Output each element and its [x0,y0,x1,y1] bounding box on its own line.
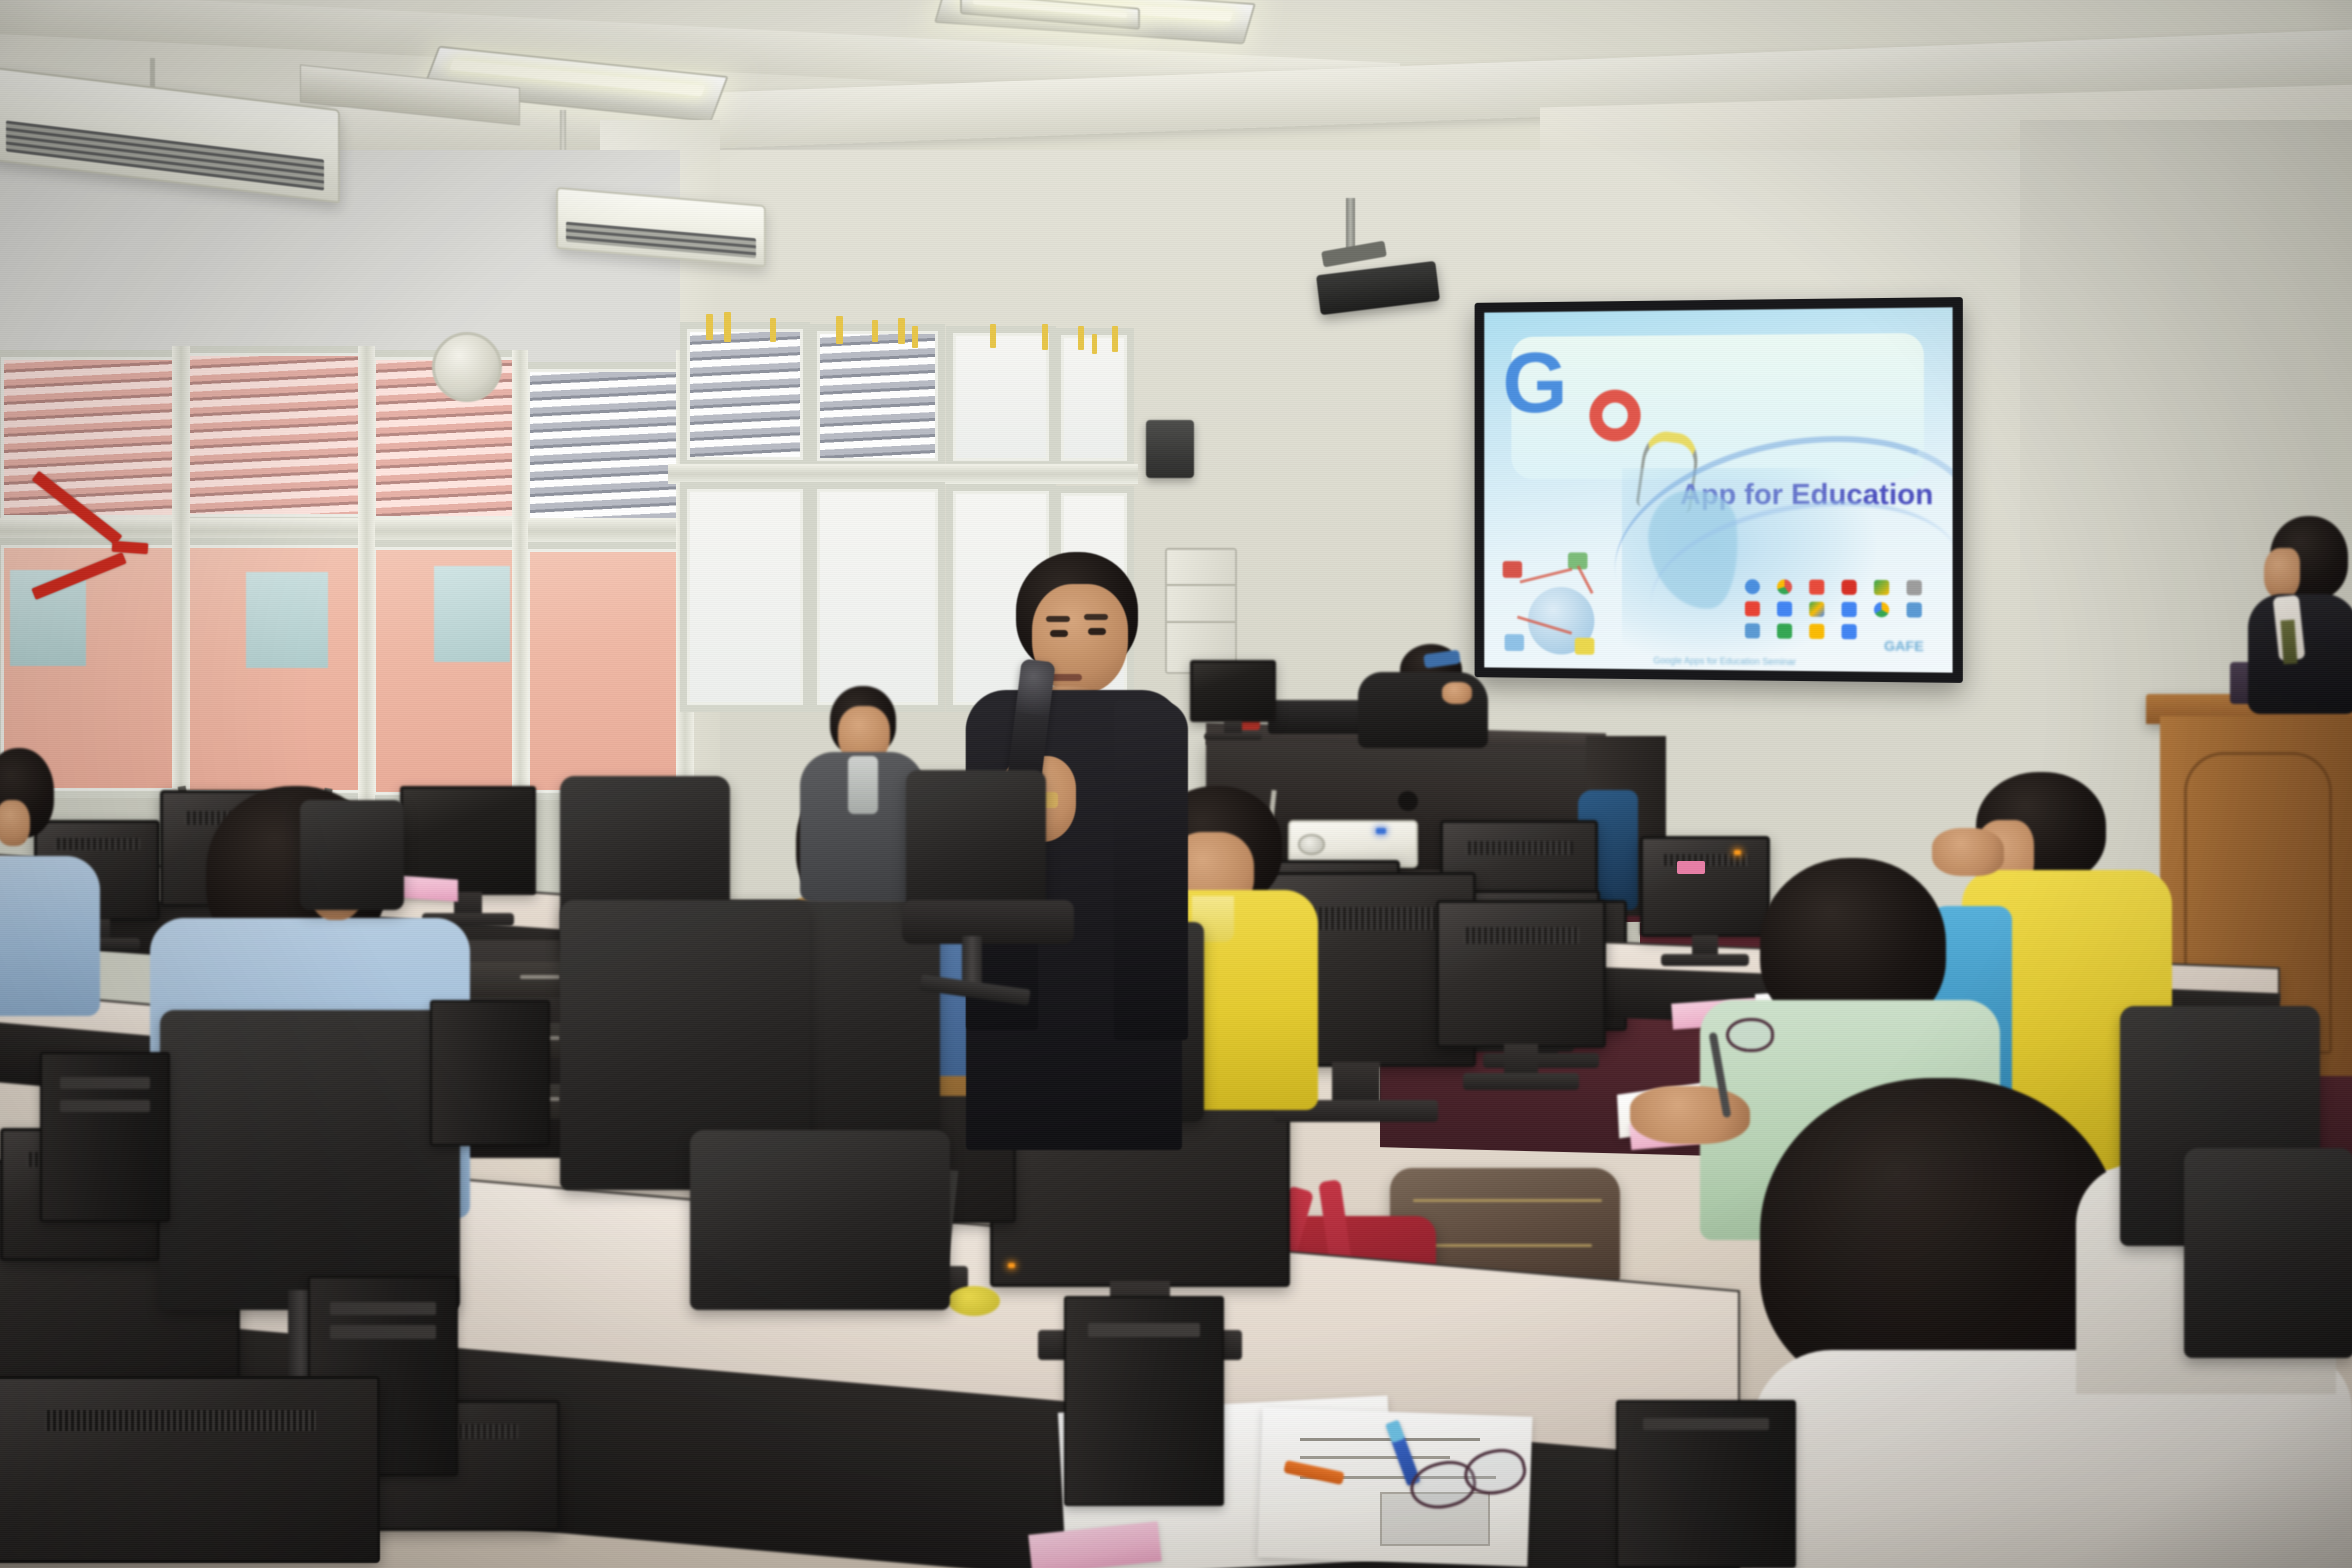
window-louver-2 [180,346,370,524]
app-icon-5 [1874,579,1889,594]
chair-right-2 [2184,1148,2352,1358]
chair-mid-3 [300,800,404,910]
classroom-photograph: G App for Education [0,0,2352,1568]
projection-screen: G App for Education [1475,297,1963,683]
monitor-foreground-bottom [0,1376,380,1568]
window-clip-4 [836,316,843,344]
podium-person-face [2264,548,2300,598]
app-icon-gmail [1745,601,1760,616]
window-mullion-2 [358,346,375,806]
chair-left-1 [160,1010,460,1310]
projected-slide: G App for Education [1484,307,1952,672]
slide-brand-text: GAFE [1884,638,1924,655]
window-clip-5 [872,320,878,342]
app-icon-2 [1777,579,1792,594]
slide-link-3 [1577,566,1594,595]
projector-power-led [1376,828,1386,834]
wall-vent-fan [432,332,502,402]
app-icon-sheets [1777,623,1792,638]
window-mullion-3 [512,350,528,806]
window-clip-9 [1042,324,1048,350]
slide-app-icon-grid [1738,579,1928,640]
window-pane-7 [680,482,810,712]
app-icon-12 [1907,602,1922,617]
pc-tower-4 [1616,1400,1796,1568]
monitor-right-1 [1640,836,1770,966]
pc-tower-3 [1064,1296,1224,1506]
window-transom-2 [668,464,1138,484]
google-logo-g: G [1502,347,1564,420]
window-clip-8 [990,324,996,348]
pc-tower-5 [430,1000,550,1146]
window-louver-1 [0,350,184,525]
app-icon-calendar [1777,601,1792,616]
app-icon-drive [1809,601,1824,616]
podium-person-tie [2280,620,2297,665]
window-louver-6 [810,324,945,468]
window-clip-2 [724,312,731,342]
window-louver-5 [680,322,810,467]
pc-tower-1 [40,1052,170,1222]
window-mullion-1 [172,346,190,806]
exterior-building-window-3 [434,566,510,662]
app-icon-11 [1874,602,1889,617]
app-icon-10 [1842,601,1857,616]
slide-node-red [1502,561,1521,578]
app-icon-youtube [1842,579,1857,594]
lightblue2-face [0,800,30,846]
tech-torso [1358,672,1488,748]
monitor-left-3 [400,786,536,926]
window-pane-8 [810,482,945,712]
speaker-eye-right [1088,628,1106,635]
app-icon-docs [1745,623,1760,638]
tech-hand [1442,682,1472,704]
speaker-lapel-right [1114,700,1188,1040]
slide-node-yellow [1575,637,1595,654]
window-clip-1 [706,314,713,340]
window-clip-10 [1078,326,1084,350]
monitor-mid-right [1436,900,1606,1090]
app-icon-forms [1842,624,1857,639]
slide-node-blue [1505,634,1524,651]
yellow2-hand [1932,828,2004,876]
app-icon-1 [1745,579,1760,594]
app-icon-slides [1809,623,1824,638]
slide-network-graphic [1502,552,1619,662]
slide-link-1 [1519,567,1572,583]
window-pane-5 [946,326,1056,468]
window-clip-7 [912,326,918,348]
grey-shirt [848,756,878,814]
chair-front-2 [690,1130,950,1310]
wall-speaker [1146,420,1194,478]
window-clip-11 [1092,334,1097,354]
app-icon-6 [1907,580,1922,595]
mint-glasses-icon [1726,1018,1774,1052]
monitor-teacher [1190,660,1276,740]
chair-mid-1-seat [902,900,1074,944]
window-clip-6 [898,318,905,344]
wall-cabinet [1165,548,1237,674]
window-clip-12 [1112,326,1118,352]
speaker-eyebrow-left [1046,616,1070,622]
window-clip-3 [770,318,776,342]
teacher-desk-grommet [1398,791,1418,812]
paper-text-line-2 [1300,1456,1450,1459]
chair-mid-1 [906,770,1046,920]
monitor-sticker-pink [1677,861,1705,874]
exterior-building-window-2 [246,572,328,668]
lightblue2-torso [0,856,100,1016]
speaker-eyebrow-right [1084,614,1108,620]
mint-hand [1630,1086,1750,1144]
speaker-eye-left [1050,630,1068,637]
desk-yellow-cap [948,1286,1000,1316]
app-icon-3 [1809,579,1824,594]
